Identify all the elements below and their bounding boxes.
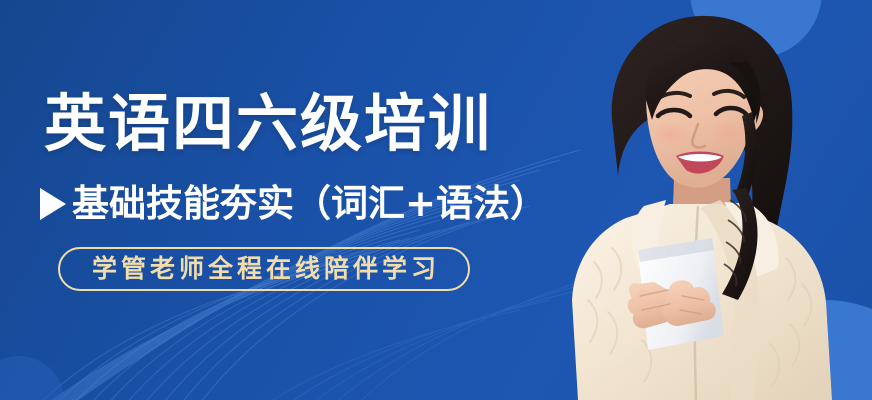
status-badge: 学管老师全程在线陪伴学习 <box>58 247 470 291</box>
status-badge-label: 学管老师全程在线陪伴学习 <box>88 255 440 283</box>
banner-text-block: 英语四六级培训 基础技能夯实（词汇+语法） 学管老师全程在线陪伴学习 <box>0 0 560 400</box>
subtitle-row: 基础技能夯实（词汇+语法） <box>40 182 547 226</box>
subtitle-text: 基础技能夯实（词汇+语法） <box>72 182 547 226</box>
course-promo-banner: 英语四六级培训 基础技能夯实（词汇+语法） 学管老师全程在线陪伴学习 <box>0 0 872 400</box>
page-title: 英语四六级培训 <box>44 88 492 160</box>
play-triangle-icon <box>40 188 66 220</box>
